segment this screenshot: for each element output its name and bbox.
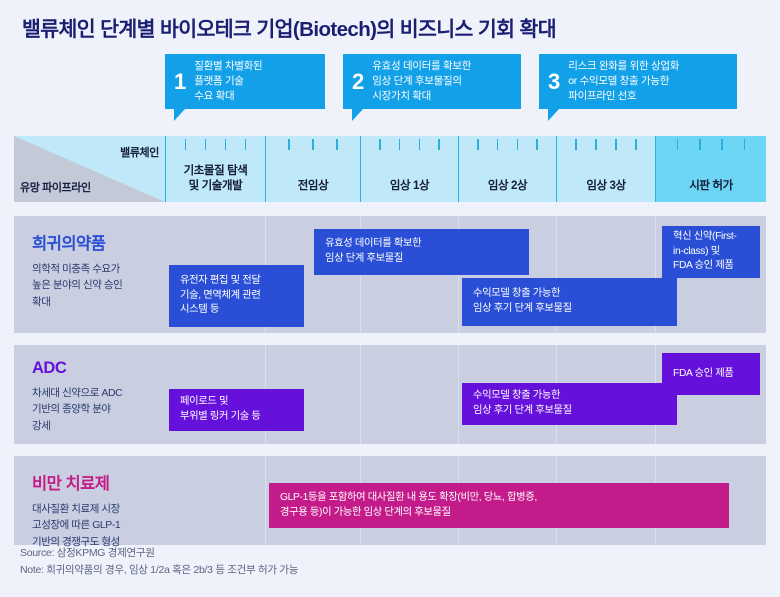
stage-label: 임상 1상 xyxy=(390,179,429,194)
callout-2: 2 유효성 데이터를 확보한 임상 단계 후보물질의 시장가치 확대 xyxy=(343,54,521,109)
opportunity-bar-label: 수익모델 창출 가능한 임상 후기 단계 후보물질 xyxy=(473,389,572,419)
callout-2-text: 유효성 데이터를 확보한 임상 단계 후보물질의 시장가치 확대 xyxy=(372,59,471,104)
value-chain-corner-cell: 밸류체인 유망 파이프라인 xyxy=(14,136,165,202)
callout-3-tail-icon xyxy=(548,109,559,121)
opportunity-bar[interactable]: 혁신 신약(First- in-class) 및 FDA 승인 제품 xyxy=(662,226,760,278)
callout-1-number: 1 xyxy=(174,71,186,93)
callout-group: 1 질환별 차별화된 플랫폼 기술 수요 확대 2 유효성 데이터를 확보한 임… xyxy=(165,54,765,126)
stage-label: 임상 2상 xyxy=(488,179,527,194)
callout-1-text: 질환별 차별화된 플랫폼 기술 수요 확대 xyxy=(194,59,262,104)
opportunity-bar-label: GLP-1등을 포함하여 대사질환 내 용도 확장(비만, 당뇨, 합병증, 경… xyxy=(280,491,537,521)
stage-tick-marks-icon xyxy=(361,139,458,152)
opportunity-bar-label: 혁신 신약(First- in-class) 및 FDA 승인 제품 xyxy=(673,230,736,275)
callout-1: 1 질환별 차별화된 플랫폼 기술 수요 확대 xyxy=(165,54,325,109)
value-chain-header: 밸류체인 유망 파이프라인 기초물질 탐색 및 기술개발전임상임상 1상임상 2… xyxy=(14,136,766,202)
opportunity-bar[interactable]: 유효성 데이터를 확보한 임상 단계 후보물질 xyxy=(314,229,529,275)
value-chain-stage-4[interactable]: 임상 2상 xyxy=(458,136,556,202)
stage-tick-marks-icon xyxy=(266,139,360,152)
column-guide-line xyxy=(265,456,266,545)
opportunity-bar[interactable]: FDA 승인 제품 xyxy=(662,353,760,395)
opportunity-bar-label: 유효성 데이터를 확보한 임상 단계 후보물질 xyxy=(325,237,421,267)
stage-label: 시판 허가 xyxy=(689,179,733,194)
segment-row-3: 비만 치료제대사질환 치료제 시장 고성장에 따른 GLP-1 기반의 경쟁구도… xyxy=(14,456,766,545)
source-note: Source: 삼정KPMG 경제연구원 xyxy=(20,545,298,562)
segment-title: ADC xyxy=(32,359,172,378)
opportunity-bar-label: FDA 승인 제품 xyxy=(673,367,734,382)
opportunity-bar[interactable]: 유전자 편집 및 전달 기술, 면역체계 관련 시스템 등 xyxy=(169,265,304,327)
opportunity-bar[interactable]: 수익모델 창출 가능한 임상 후기 단계 후보물질 xyxy=(462,278,677,326)
value-chain-stage-5[interactable]: 임상 3상 xyxy=(556,136,655,202)
value-chain-stage-1[interactable]: 기초물질 탐색 및 기술개발 xyxy=(165,136,265,202)
value-chain-stage-2[interactable]: 전임상 xyxy=(265,136,360,202)
callout-2-tail-icon xyxy=(352,109,363,121)
column-guide-line xyxy=(360,345,361,444)
opportunity-bar[interactable]: 페이로드 및 부위별 링커 기술 등 xyxy=(169,389,304,431)
segment-title: 비만 치료제 xyxy=(32,470,172,494)
stage-tick-marks-icon xyxy=(459,139,556,152)
value-chain-stage-3[interactable]: 임상 1상 xyxy=(360,136,458,202)
segment-description: 의학적 미충족 수요가 높은 분야의 신약 승인 확대 xyxy=(32,261,172,310)
segment-row-1: 희귀의약품의학적 미충족 수요가 높은 분야의 신약 승인 확대유전자 편집 및… xyxy=(14,216,766,333)
callout-3-number: 3 xyxy=(548,71,560,93)
callout-3-text: 리스크 완화를 위한 상업화 or 수익모델 창출 가능한 파이프라인 선호 xyxy=(568,59,679,104)
callout-3: 3 리스크 완화를 위한 상업화 or 수익모델 창출 가능한 파이프라인 선호 xyxy=(539,54,737,109)
segment-description: 대사질환 치료제 시장 고성장에 따른 GLP-1 기반의 경쟁구도 형성 xyxy=(32,501,172,550)
opportunity-bar-label: 페이로드 및 부위별 링커 기술 등 xyxy=(180,395,261,425)
footnotes: Source: 삼정KPMG 경제연구원 Note: 희귀의약품의 경우, 임상… xyxy=(20,545,298,579)
stage-label: 기초물질 탐색 및 기술개발 xyxy=(184,164,248,194)
segment-label-block: 비만 치료제대사질환 치료제 시장 고성장에 따른 GLP-1 기반의 경쟁구도… xyxy=(32,470,172,550)
opportunity-bar-label: 수익모델 창출 가능한 임상 후기 단계 후보물질 xyxy=(473,287,572,317)
segment-description: 차세대 신약으로 ADC 기반의 종양학 분야 강세 xyxy=(32,385,172,434)
opportunity-bar[interactable]: 수익모델 창출 가능한 임상 후기 단계 후보물질 xyxy=(462,383,677,425)
pipeline-axis-label: 유망 파이프라인 xyxy=(20,179,91,195)
stage-label: 임상 3상 xyxy=(586,179,625,194)
stage-tick-marks-icon xyxy=(557,139,655,152)
segment-label-block: 희귀의약품의학적 미충족 수요가 높은 분야의 신약 승인 확대 xyxy=(32,230,172,310)
page-title: 밸류체인 단계별 바이오테크 기업(Biotech)의 비즈니스 기회 확대 xyxy=(22,12,762,42)
callout-2-number: 2 xyxy=(352,71,364,93)
segment-title: 희귀의약품 xyxy=(32,230,172,254)
stage-tick-marks-icon xyxy=(166,139,265,152)
stage-tick-marks-icon xyxy=(656,139,766,152)
value-chain-stage-6[interactable]: 시판 허가 xyxy=(655,136,766,202)
segment-row-2: ADC차세대 신약으로 ADC 기반의 종양학 분야 강세페이로드 및 부위별 … xyxy=(14,345,766,444)
opportunity-bar-label: 유전자 편집 및 전달 기술, 면역체계 관련 시스템 등 xyxy=(180,274,261,319)
stage-label: 전임상 xyxy=(298,179,329,194)
method-note: Note: 희귀의약품의 경우, 임상 1/2a 혹은 2b/3 등 조건부 허… xyxy=(20,562,298,579)
column-guide-line xyxy=(458,345,459,444)
callout-1-tail-icon xyxy=(174,109,185,121)
value-chain-axis-label: 밸류체인 xyxy=(120,144,159,160)
segment-label-block: ADC차세대 신약으로 ADC 기반의 종양학 분야 강세 xyxy=(32,359,172,434)
opportunity-bar[interactable]: GLP-1등을 포함하여 대사질환 내 용도 확장(비만, 당뇨, 합병증, 경… xyxy=(269,483,729,528)
